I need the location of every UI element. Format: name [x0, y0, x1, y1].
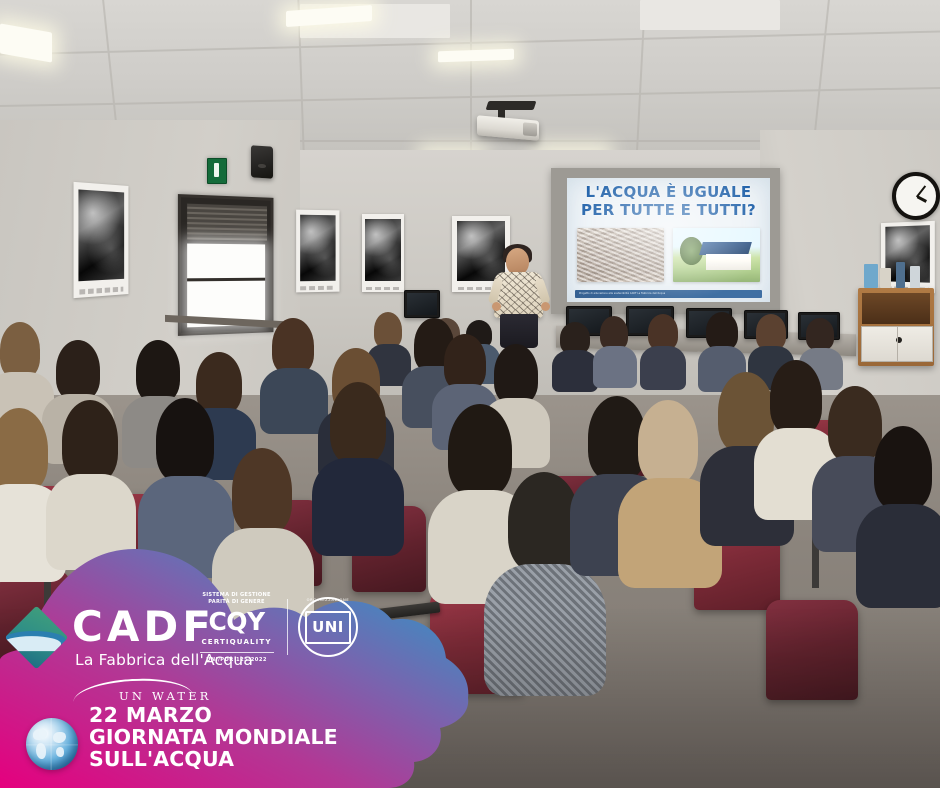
- uni-arc-label: ORGANIZZAZIONE: [307, 598, 350, 602]
- window-icon: [178, 194, 274, 336]
- monitor: [404, 290, 440, 318]
- cabinet-item: [864, 264, 878, 288]
- un-water-label: UN WATER: [119, 689, 212, 703]
- presenter-hand-right: [541, 302, 550, 311]
- emergency-exit-icon: [207, 158, 227, 184]
- presenter-hand-left: [492, 302, 501, 311]
- cabinet-icon: [858, 288, 934, 366]
- cabinet-item: [880, 268, 891, 288]
- presenter-head: [506, 248, 529, 275]
- presenter: [494, 248, 544, 352]
- cabinet-doors: [861, 326, 933, 362]
- cert-heading-line2: PARITÀ DI GENERE: [196, 599, 277, 606]
- slide-title-line1: L'ACQUA È UGUALE: [579, 184, 758, 201]
- world-water-day-title: GIORNATA MONDIALE SULL'ACQUA: [89, 726, 470, 770]
- cloud-banner-content: CADF La Fabbrica dell'Acqua SISTEMA DI G…: [0, 548, 470, 788]
- poster-bw-1: [74, 182, 129, 298]
- cabinet-item: [910, 266, 920, 288]
- cert-divider: [200, 652, 274, 653]
- slide-title: L'ACQUA È UGUALE PER TUTTE E TUTTI?: [579, 184, 758, 219]
- certiquality-name: CERTIQUALITY: [196, 637, 277, 646]
- window-glass: [188, 243, 265, 327]
- poster-bw-2: [296, 210, 339, 293]
- globe-icon: [26, 718, 78, 770]
- cabinet-item: [896, 262, 905, 288]
- slide-footer-text: Progetto di educazione alla sostenibilit…: [575, 292, 665, 295]
- presenter-skirt: [500, 314, 538, 348]
- projector-lens: [523, 122, 537, 136]
- slide-photo-favela: [577, 228, 664, 283]
- poster-bw-3: [362, 214, 404, 292]
- certiquality-mark: CQY: [196, 609, 277, 634]
- window-louvre: [186, 203, 269, 241]
- cabinet-shelf: [862, 293, 930, 324]
- projector-mount: [486, 101, 537, 110]
- screenshot-root: L'ACQUA È UGUALE PER TUTTE E TUTTI? Prog…: [0, 0, 940, 788]
- world-water-day-date: 22 MARZO: [89, 704, 470, 726]
- wall-clock-icon: [892, 172, 940, 220]
- wall-speaker-icon: [251, 145, 273, 179]
- slide-photo-house: [673, 228, 760, 283]
- uni-certification-icon: ORGANIZZAZIONE UNI: [298, 597, 358, 657]
- seat: [766, 600, 858, 700]
- cert-vertical-divider: [287, 599, 288, 655]
- cadf-diamond-icon: [5, 605, 69, 669]
- projected-slide: L'ACQUA È UGUALE PER TUTTE E TUTTI? Prog…: [567, 178, 770, 302]
- slide-footer: Progetto di educazione alla sostenibilit…: [575, 290, 762, 299]
- slide-photos: [577, 228, 760, 283]
- certification-block: SISTEMA DI GESTIONE PARITÀ DI GENERE CQY…: [196, 592, 358, 663]
- slide-title-line2: PER TUTTE E TUTTI?: [579, 202, 758, 219]
- world-water-day-block: UN WATER 22 MARZO GIORNATA MONDIALE SULL…: [26, 682, 470, 770]
- uni-word: UNI: [312, 620, 344, 635]
- cert-standard: UNI/PDR 125:2022: [196, 657, 277, 663]
